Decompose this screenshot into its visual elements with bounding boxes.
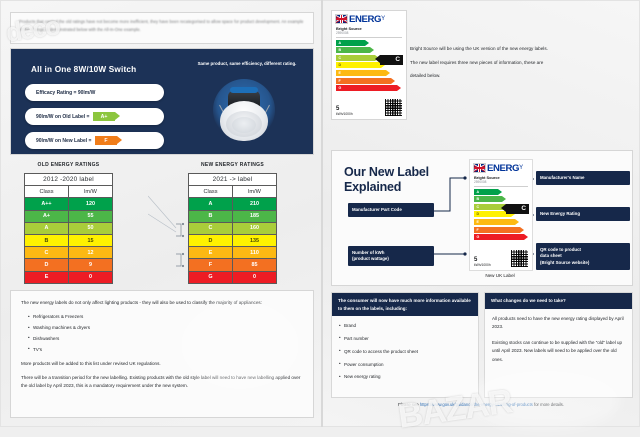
consumer-card-heading: The consumer will now have much more inf… [332,293,478,316]
energy-label-brand: Bright Source [470,173,532,180]
table-row: F85 [189,259,277,271]
cell-value: 50 [69,222,113,234]
callout-qr-line2: data sheet [540,253,562,258]
label-explained-panel: Our New Label Explained [331,150,633,286]
callout-qr-code: QR code to product data sheet (Bright So… [536,243,630,270]
kwh-block: 5 kWh/1000h [336,106,353,116]
changes-paragraph-2: Existing stocks can continue to be suppl… [492,339,625,365]
cell-class: E [189,247,233,259]
top-intro-line1: Bright Source will be using the UK versi… [410,44,620,54]
cell-value: 135 [233,234,277,246]
energy-bar-a: A [336,40,365,46]
callout-qr-line1: QR code to product [540,247,581,252]
energy-bar-b: B [474,196,502,202]
energy-label: ENERG Y Bright Source 2590008 A B C D E … [332,11,406,119]
cell-class: A [25,222,69,234]
explained-title: Our New Label Explained [344,165,429,195]
table-row: A++120 [25,198,113,210]
old-table-col-class: Class [25,186,69,198]
hero-title: All in One 8W/10W Switch [31,65,136,74]
old-energy-ratings-table: OLD ENERGY RATINGS 2012 -2020 label Clas… [24,162,113,284]
uk-flag-icon [335,14,348,24]
list-item: Brand [339,322,471,331]
table-row: B185 [189,210,277,222]
energy-wordmark: ENERG [487,164,519,173]
energy-bar-c: C [336,55,375,61]
table-row: D135 [189,234,277,246]
energy-label-header: ENERG Y [332,11,406,24]
energy-bar-g: G [474,234,524,240]
table-row: E110 [189,247,277,259]
energy-label-brand: Bright Source [332,24,406,31]
explained-title-line2: Explained [344,180,401,194]
energy-star-icon: Y [519,165,523,171]
column-divider [321,0,323,427]
cell-class: A++ [25,198,69,210]
cell-class: C [189,222,233,234]
cell-value: 120 [69,198,113,210]
cell-class: A [189,198,233,210]
energy-bar-e: E [336,70,386,76]
energy-label-card-top: ENERG Y Bright Source 2590008 A B C D E … [331,10,407,120]
list-item: New energy rating [339,373,471,382]
cell-class: E [25,271,69,283]
consumer-info-card: The consumer will now have much more inf… [331,292,479,398]
new-table-title: 2021 -> label [189,174,277,186]
table-row: E0 [25,271,113,283]
new-energy-ratings-table: NEW ENERGY RATINGS 2021 -> label Class l… [188,162,277,284]
footer-prefix: Please see [398,402,420,407]
table-row: C160 [189,222,277,234]
current-rating-badge: C [380,55,403,65]
hero-row-efficacy-label: Efficacy Rating = 90lm/W [36,90,95,96]
old-table-col-value: lm/W [69,186,113,198]
qr-code-icon [511,250,528,267]
new-rating-chip: F [95,136,117,146]
cell-value: 210 [233,198,277,210]
cell-class: C [25,247,69,259]
intro-paragraph: Products that carried the old ratings ha… [11,13,313,35]
table-row: C12 [25,247,113,259]
list-item: Power consumption [339,361,471,370]
uk-flag-icon [473,163,486,173]
downlight-product-image [207,75,281,149]
cell-value: 110 [233,247,277,259]
energy-label-footer: 5 kWh/1000h [332,99,406,118]
old-rating-chip: A+ [93,112,115,122]
hero-panel: All in One 8W/10W Switch Efficacy Rating… [10,48,314,155]
energy-bar-d: D [336,62,381,68]
cell-value: 9 [69,259,113,271]
new-table-col-class: Class [189,186,233,198]
poster-page: Products that carried the old ratings ha… [0,0,640,427]
consumer-info-list: Brand Part number QR code to access the … [339,322,471,382]
cell-value: 185 [233,210,277,222]
table-row: B15 [25,234,113,246]
current-rating-badge: C [506,204,529,214]
callout-new-energy-rating: New Energy Rating [536,207,630,221]
table-row: A50 [25,222,113,234]
new-uk-label-caption: New UK Label [452,273,548,278]
hero-row-old-label: 90lm/W on Old Label = A+ [25,108,164,125]
cell-value: 85 [233,259,277,271]
cell-value: 0 [69,271,113,283]
watermark-blob [180,300,300,390]
energy-star-icon: Y [381,16,385,22]
energy-bar-b: B [336,47,370,53]
top-intro-text: Bright Source will be using the UK versi… [410,44,620,85]
hero-row-old-label-text: 90lm/W on Old Label = [36,114,89,120]
cell-value: 55 [69,210,113,222]
cell-class: F [189,259,233,271]
cell-class: B [25,234,69,246]
energy-label-bars: A B C D E F G C [332,37,406,91]
hero-row-efficacy: Efficacy Rating = 90lm/W [25,84,164,101]
cell-class: D [189,234,233,246]
callout-part-code: Manufacturer Part Code [348,203,434,217]
cell-value: 0 [233,271,277,283]
energy-bar-f: F [474,227,520,233]
old-table-title: 2012 -2020 label [25,174,113,186]
top-intro-line2: The new label requires three new pieces … [410,58,620,68]
hero-row-new-label-text: 90lm/W on New Label = [36,138,91,144]
list-item: Part number [339,335,471,344]
list-item: QR code to access the product sheet [339,348,471,357]
changes-card-heading: What changes do we need to take? [485,293,632,309]
energy-bar-g: G [336,85,397,91]
table-row: G0 [189,271,277,283]
callout-qr-line3: (Bright Source website) [540,260,589,265]
cell-value: 15 [69,234,113,246]
kwh-block: 5 kWh/1000h [474,257,491,267]
callout-kwh-line1: Number of kWh [352,250,384,255]
new-rating-chip-label: F [104,138,107,144]
qr-code-icon [385,99,402,116]
callout-kwh-line2: (product wattage) [352,256,389,261]
energy-bar-e: E [474,219,515,225]
energy-bar-f: F [336,78,391,84]
table-row: A210 [189,198,277,210]
new-table-col-value: lm/W [233,186,277,198]
energy-label-footer: 5 kWh/1000h [470,250,532,269]
explained-title-line1: Our New Label [344,165,429,179]
cell-value: 160 [233,222,277,234]
callout-kwh: Number of kWh (product wattage) [348,246,434,266]
table-row: D9 [25,259,113,271]
kwh-units: kWh/1000h [336,112,353,116]
energy-wordmark: ENERG [349,15,381,24]
kwh-units: kWh/1000h [474,263,491,267]
new-table-heading: NEW ENERGY RATINGS [188,162,277,168]
energy-label: ENERG Y Bright Source 2590008 A B C D E … [470,160,532,270]
callout-manufacturer-name: Manufacturer's Name [536,171,630,185]
cell-class: G [189,271,233,283]
energy-bar-a: A [474,189,498,195]
watermark-blob [470,370,620,430]
hero-row-new-label: 90lm/W on New Label = F [25,132,164,149]
table-connector-lines [148,170,192,280]
cell-value: 12 [69,247,113,259]
table-row: A+55 [25,210,113,222]
hero-caption: Same product, same efficiency, different… [186,61,308,66]
top-intro-line3: detailed below. [410,71,620,81]
energy-label-header: ENERG Y [470,160,532,173]
intro-text-box: Products that carried the old ratings ha… [10,12,314,44]
energy-label-bars: A B C D E F G C [470,186,532,240]
changes-paragraph-1: All products need to have the new energy… [492,315,625,332]
cell-class: B [189,210,233,222]
cell-class: D [25,259,69,271]
cell-class: A+ [25,210,69,222]
old-table-heading: OLD ENERGY RATINGS [24,162,113,168]
old-rating-chip-label: A+ [101,114,108,120]
energy-label-card-explained: ENERG Y Bright Source 2590008 A B C D E … [469,159,533,271]
lamp-lens [232,117,256,133]
